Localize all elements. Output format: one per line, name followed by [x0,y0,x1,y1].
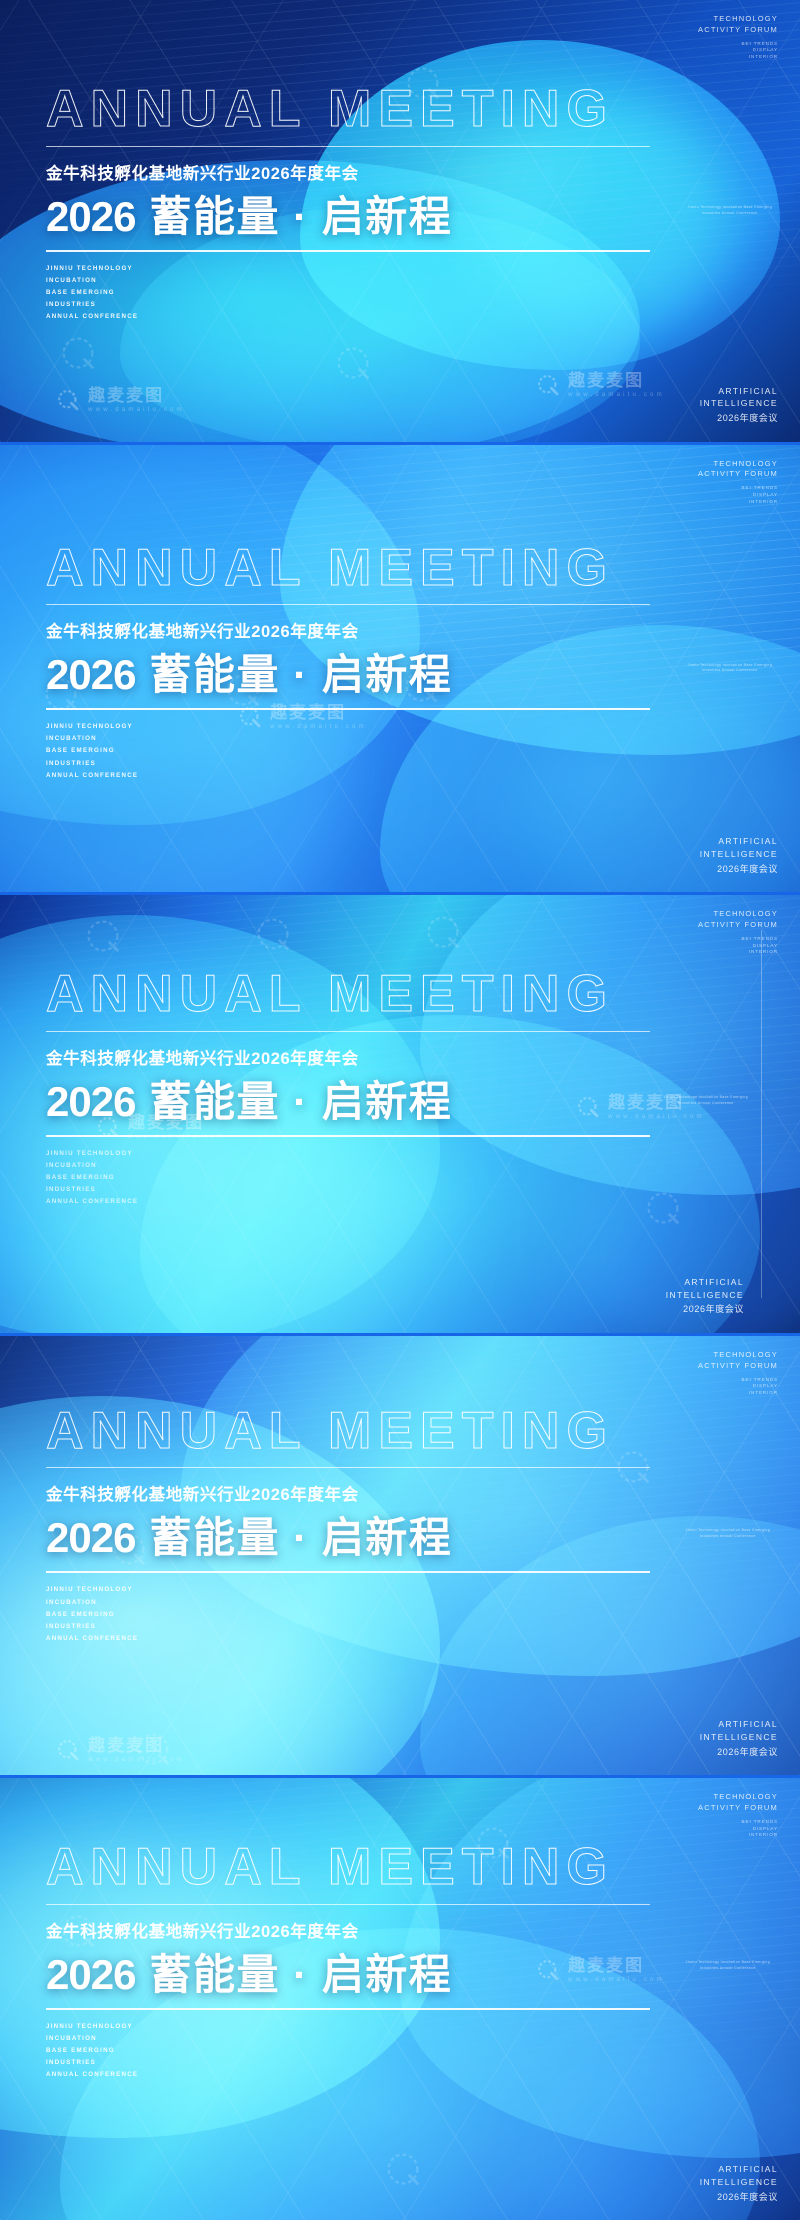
caption-line-4: INDUSTRIES [46,1621,650,1633]
caption-line-2: INCUBATION [46,1160,650,1172]
caption-line-2: INCUBATION [46,1597,650,1609]
corner-top-right: TECHNOLOGY ACTIVITY FORUM BEI TRENDS DIS… [698,459,778,506]
corner-top-right: TECHNOLOGY ACTIVITY FORUM BEI TRENDS DIS… [698,909,778,956]
poster-panel-3[interactable]: TECHNOLOGY ACTIVITY FORUM BEI TRENDS DIS… [0,895,800,1333]
panel-4-content: TECHNOLOGY ACTIVITY FORUM BEI TRENDS DIS… [0,1336,800,1776]
caption-line-2: INCUBATION [46,275,650,287]
corner-br-line3: 2026年度会议 [700,412,778,426]
caption-line-5: ANNUAL CONFERENCE [46,2069,650,2081]
watermark-name: 趣麦麦图 [568,372,665,389]
corner-tr-small3: INTERIOR [698,499,778,506]
caption-line-1: JINNIU TECHNOLOGY [46,721,650,733]
main-title-cn: 蓄能量 · 启新程 [149,193,452,240]
corner-top-right: TECHNOLOGY ACTIVITY FORUM BEI TRENDS DIS… [698,1350,778,1397]
title-rule [46,708,650,710]
poster-panel-1[interactable]: TECHNOLOGY ACTIVITY FORUM BEI TRENDS DIS… [0,0,800,442]
watermark-logo-icon [55,387,81,413]
watermark: 趣麦麦图 www.damaitu.com [55,387,185,413]
caption-line-4: INDUSTRIES [46,758,650,770]
main-title-year: 2026 [46,1078,135,1125]
corner-bottom-right: ARTIFICIAL INTELLIGENCE 2026年度会议 [700,2163,778,2204]
watermark-logo-icon [55,1737,81,1763]
watermark-text: 趣麦麦图 www.damaitu.com [568,372,665,398]
caption-line-4: INDUSTRIES [46,299,650,311]
headline: ANNUAL MEETING [46,1404,650,1459]
corner-br-line2: INTELLIGENCE [666,1289,744,1302]
corner-top-right: TECHNOLOGY ACTIVITY FORUM BEI TRENDS DIS… [698,1792,778,1839]
corner-br-line1: ARTIFICIAL [700,2163,778,2176]
caption-line-3: BASE EMERGING [46,1609,650,1621]
caption-block: JINNIU TECHNOLOGY INCUBATION BASE EMERGI… [46,263,650,323]
main-title: 2026蓄能量 · 启新程 [46,1078,650,1125]
side-mini-text: Jinniu Technology Incubation Base Emergi… [688,663,772,675]
corner-tr-small2: DISPLAY [698,943,778,950]
watermark: 趣麦麦图 www.damaitu.com [55,1737,185,1763]
corner-br-line2: INTELLIGENCE [700,397,778,410]
caption-line-5: ANNUAL CONFERENCE [46,311,650,323]
corner-br-line3: 2026年度会议 [700,1746,778,1760]
poster-panel-4[interactable]: TECHNOLOGY ACTIVITY FORUM BEI TRENDS DIS… [0,1336,800,1776]
corner-bottom-right: ARTIFICIAL INTELLIGENCE 2026年度会议 [666,1276,744,1317]
corner-tr-small3: INTERIOR [698,54,778,61]
caption-line-1: JINNIU TECHNOLOGY [46,1584,650,1596]
caption-line-1: JINNIU TECHNOLOGY [46,263,650,275]
caption-line-1: JINNIU TECHNOLOGY [46,1148,650,1160]
main-title-cn: 蓄能量 · 启新程 [149,1951,452,1998]
caption-line-2: INCUBATION [46,733,650,745]
caption-line-3: BASE EMERGING [46,745,650,757]
main-title: 2026蓄能量 · 启新程 [46,651,650,698]
caption-line-5: ANNUAL CONFERENCE [46,1196,650,1208]
corner-br-line1: ARTIFICIAL [700,835,778,848]
subline: 金牛科技孵化基地新兴行业2026年度年会 [46,160,650,184]
subline: 金牛科技孵化基地新兴行业2026年度年会 [46,1918,650,1942]
watermark-text: 趣麦麦图 www.damaitu.com [88,1737,185,1763]
corner-tr-small2: DISPLAY [698,1383,778,1390]
main-title-year: 2026 [46,193,135,240]
corner-tr-line2: ACTIVITY FORUM [698,25,778,36]
side-mini-line2: Industries Annual Conference [688,211,772,217]
corner-tr-small3: INTERIOR [698,1832,778,1839]
main-title-cn: 蓄能量 · 启新程 [149,1078,452,1125]
corner-br-line2: INTELLIGENCE [700,2176,778,2189]
watermark-url: www.damaitu.com [568,392,665,398]
headline: ANNUAL MEETING [46,967,650,1022]
corner-top-right: TECHNOLOGY ACTIVITY FORUM BEI TRENDS DIS… [698,14,778,61]
corner-br-line2: INTELLIGENCE [700,1731,778,1744]
caption-block: JINNIU TECHNOLOGY INCUBATION BASE EMERGI… [46,1584,650,1644]
corner-tr-small1: BEI TRENDS [698,1377,778,1384]
corner-tr-small3: INTERIOR [698,1390,778,1397]
main-title-year: 2026 [46,1951,135,1998]
main-title-cn: 蓄能量 · 启新程 [149,1514,452,1561]
watermark-name: 趣麦麦图 [88,387,185,404]
corner-tr-line2: ACTIVITY FORUM [698,469,778,480]
side-mini-line2: Industries Annual Conference [664,1101,748,1107]
corner-tr-line1: TECHNOLOGY [698,909,778,920]
title-rule [46,1135,650,1137]
corner-tr-small1: BEI TRENDS [698,485,778,492]
corner-br-line3: 2026年度会议 [666,1303,744,1317]
main-title: 2026蓄能量 · 启新程 [46,1951,650,1998]
corner-tr-line2: ACTIVITY FORUM [698,1361,778,1372]
panel-1-content: TECHNOLOGY ACTIVITY FORUM BEI TRENDS DIS… [0,0,800,442]
caption-block: JINNIU TECHNOLOGY INCUBATION BASE EMERGI… [46,2021,650,2081]
headline-block: ANNUAL MEETING 金牛科技孵化基地新兴行业2026年度年会 2026… [46,1404,650,1645]
headline-rule [46,604,650,605]
corner-bottom-right: ARTIFICIAL INTELLIGENCE 2026年度会议 [700,1718,778,1759]
watermark-name: 趣麦麦图 [88,1737,185,1754]
main-title: 2026蓄能量 · 启新程 [46,1514,650,1561]
corner-tr-line2: ACTIVITY FORUM [698,920,778,931]
main-title-cn: 蓄能量 · 启新程 [149,651,452,698]
headline-block: ANNUAL MEETING 金牛科技孵化基地新兴行业2026年度年会 2026… [46,82,650,323]
corner-tr-small3: INTERIOR [698,949,778,956]
watermark: 趣麦麦图 www.damaitu.com [535,372,665,398]
corner-br-line2: INTELLIGENCE [700,848,778,861]
corner-tr-small1: BEI TRENDS [698,1819,778,1826]
title-rule [46,2008,650,2010]
caption-line-3: BASE EMERGING [46,1172,650,1184]
caption-block: JINNIU TECHNOLOGY INCUBATION BASE EMERGI… [46,1148,650,1208]
headline-rule [46,1904,650,1905]
corner-tr-line2: ACTIVITY FORUM [698,1803,778,1814]
corner-tr-small2: DISPLAY [698,492,778,499]
corner-tr-line1: TECHNOLOGY [698,14,778,25]
corner-tr-small1: BEI TRENDS [698,41,778,48]
watermark-logo-icon [535,372,561,398]
corner-br-line3: 2026年度会议 [700,2191,778,2205]
poster-panel-2[interactable]: TECHNOLOGY ACTIVITY FORUM BEI TRENDS DIS… [0,445,800,893]
headline-block: ANNUAL MEETING 金牛科技孵化基地新兴行业2026年度年会 2026… [46,1840,650,2081]
corner-br-line1: ARTIFICIAL [666,1276,744,1289]
subline: 金牛科技孵化基地新兴行业2026年度年会 [46,618,650,642]
caption-line-3: BASE EMERGING [46,2045,650,2057]
watermark-text: 趣麦麦图 www.damaitu.com [88,387,185,413]
panel-5-content: TECHNOLOGY ACTIVITY FORUM BEI TRENDS DIS… [0,1778,800,2220]
corner-tr-small2: DISPLAY [698,47,778,54]
corner-bottom-right: ARTIFICIAL INTELLIGENCE 2026年度会议 [700,835,778,876]
main-title-year: 2026 [46,651,135,698]
caption-line-4: INDUSTRIES [46,2057,650,2069]
caption-line-3: BASE EMERGING [46,287,650,299]
side-mini-line2: Industries Annual Conference [686,1534,770,1540]
poster-panel-5[interactable]: TECHNOLOGY ACTIVITY FORUM BEI TRENDS DIS… [0,1778,800,2220]
corner-br-line1: ARTIFICIAL [700,385,778,398]
subline: 金牛科技孵化基地新兴行业2026年度年会 [46,1045,650,1069]
headline: ANNUAL MEETING [46,1840,650,1895]
panel-2-content: TECHNOLOGY ACTIVITY FORUM BEI TRENDS DIS… [0,445,800,893]
corner-bottom-right: ARTIFICIAL INTELLIGENCE 2026年度会议 [700,385,778,426]
headline-block: ANNUAL MEETING 金牛科技孵化基地新兴行业2026年度年会 2026… [46,967,650,1208]
side-mini-line2: Industries Annual Conference [686,1966,770,1972]
caption-line-1: JINNIU TECHNOLOGY [46,2021,650,2033]
corner-tr-line1: TECHNOLOGY [698,459,778,470]
caption-block: JINNIU TECHNOLOGY INCUBATION BASE EMERGI… [46,721,650,781]
poster-set: TECHNOLOGY ACTIVITY FORUM BEI TRENDS DIS… [0,0,800,2220]
caption-line-5: ANNUAL CONFERENCE [46,770,650,782]
title-rule [46,1571,650,1573]
corner-br-line3: 2026年度会议 [700,863,778,877]
corner-tr-line1: TECHNOLOGY [698,1350,778,1361]
side-mini-text: Jinniu Technology Incubation Base Emergi… [688,205,772,217]
caption-line-2: INCUBATION [46,2033,650,2045]
side-mini-text: Jinniu Technology Incubation Base Emergi… [664,1095,748,1107]
watermark-url: www.damaitu.com [88,407,185,413]
side-mini-text: Jinniu Technology Incubation Base Emergi… [686,1528,770,1540]
watermark-url: www.damaitu.com [88,1757,185,1763]
title-rule [46,250,650,252]
main-title: 2026蓄能量 · 启新程 [46,193,650,240]
side-mini-line1: Jinniu Technology Incubation Base Emergi… [686,1528,770,1534]
corner-tr-line1: TECHNOLOGY [698,1792,778,1803]
panel-3-content: TECHNOLOGY ACTIVITY FORUM BEI TRENDS DIS… [0,895,800,1333]
side-mini-text: Jinniu Technology Incubation Base Emergi… [686,1960,770,1972]
side-mini-line2: Industries Annual Conference [688,668,772,674]
headline: ANNUAL MEETING [46,82,650,137]
corner-tr-small1: BEI TRENDS [698,936,778,943]
side-mini-line1: Jinniu Technology Incubation Base Emergi… [688,205,772,211]
headline-block: ANNUAL MEETING 金牛科技孵化基地新兴行业2026年度年会 2026… [46,541,650,782]
corner-br-line1: ARTIFICIAL [700,1718,778,1731]
headline: ANNUAL MEETING [46,541,650,596]
headline-rule [46,146,650,147]
caption-line-5: ANNUAL CONFERENCE [46,1633,650,1645]
headline-rule [46,1467,650,1468]
corner-tr-small2: DISPLAY [698,1826,778,1833]
subline: 金牛科技孵化基地新兴行业2026年度年会 [46,1481,650,1505]
main-title-year: 2026 [46,1514,135,1561]
caption-line-4: INDUSTRIES [46,1184,650,1196]
headline-rule [46,1031,650,1032]
